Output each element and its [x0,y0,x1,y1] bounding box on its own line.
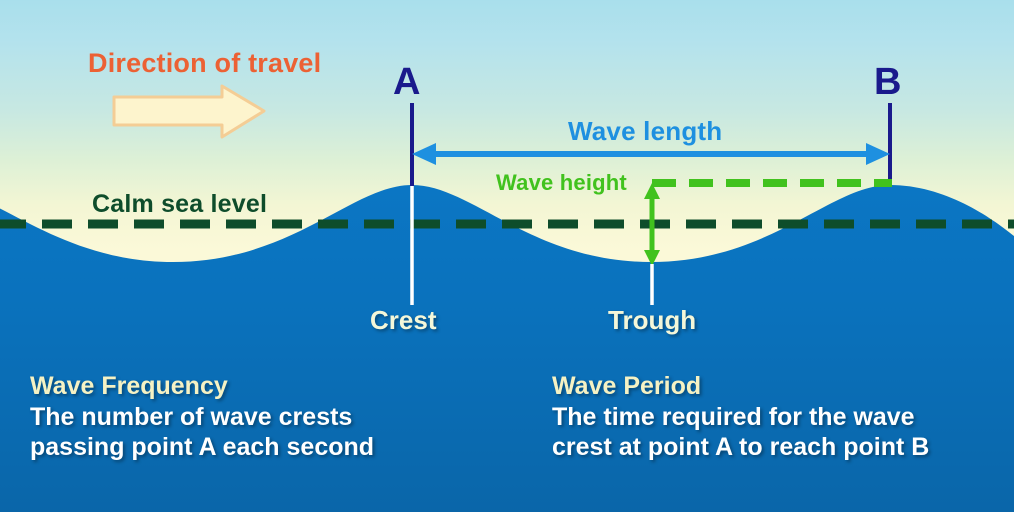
wave-frequency-line-1: The number of wave crests [30,402,374,433]
wave-period-line-2: crest at point A to reach point B [552,432,929,463]
wave-period-title: Wave Period [552,372,929,402]
wave-frequency-note: Wave Frequency The number of wave crests… [30,372,374,463]
calm-sea-level-label: Calm sea level [92,192,267,217]
wave-diagram: Direction of travel Calm sea level A B W… [0,0,1014,512]
trough-label: Trough [608,307,696,333]
ocean-water [0,185,1014,512]
wave-length-arrowhead-right [866,143,890,165]
direction-of-travel-arrow [114,86,264,137]
wave-height-label: Wave height [496,172,627,194]
wave-frequency-title: Wave Frequency [30,372,374,402]
point-a-label: A [393,63,420,101]
wave-frequency-line-2: passing point A each second [30,432,374,463]
wave-length-arrowhead-left [412,143,436,165]
wave-period-line-1: The time required for the wave [552,402,929,433]
wave-length-label: Wave length [568,118,722,144]
direction-of-travel-label: Direction of travel [88,50,321,77]
crest-label: Crest [370,307,436,333]
wave-period-note: Wave Period The time required for the wa… [552,372,929,463]
point-b-label: B [874,63,901,101]
